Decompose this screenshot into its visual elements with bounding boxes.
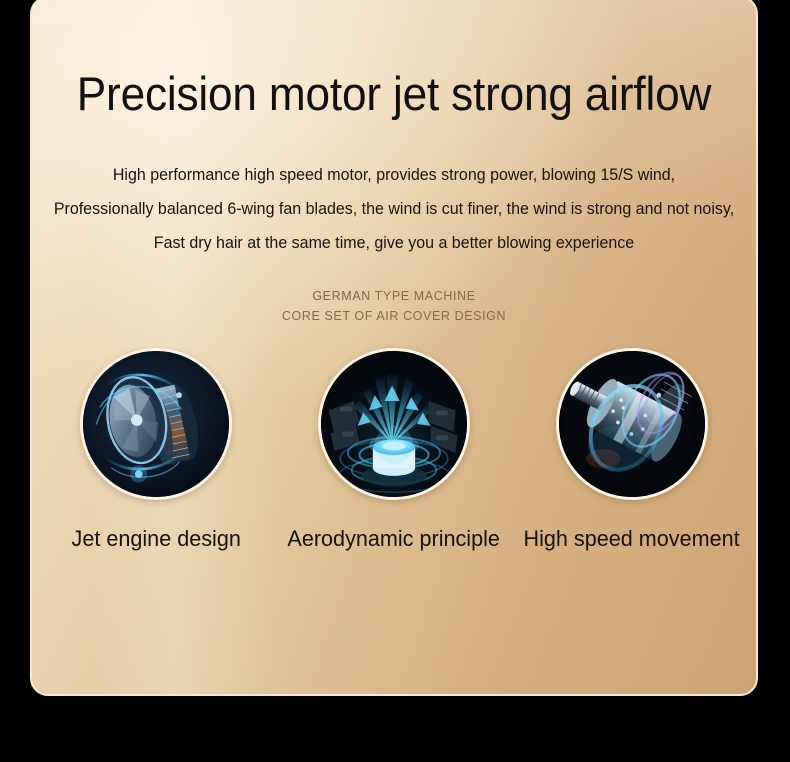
feature-row: Jet engine design xyxy=(32,348,756,552)
description-line: Professionally balanced 6-wing fan blade… xyxy=(43,192,745,226)
feature-item-high-speed: High speed movement xyxy=(552,348,712,552)
subheading-line: CORE SET OF AIR COVER DESIGN xyxy=(32,306,756,326)
feature-item-aerodynamic: Aerodynamic principle xyxy=(314,348,474,552)
screenshot-canvas: Precision motor jet strong airflow High … xyxy=(0,0,790,762)
feature-item-jet-engine: Jet engine design xyxy=(76,348,236,552)
airflow-vortex-image xyxy=(318,348,470,500)
page-title: Precision motor jet strong airflow xyxy=(54,70,735,117)
feature-label: High speed movement xyxy=(524,526,740,552)
jet-turbine-image xyxy=(80,348,232,500)
description-block: High performance high speed motor, provi… xyxy=(43,158,745,260)
feature-label: Aerodynamic principle xyxy=(288,526,501,552)
motor-rotor-image xyxy=(556,348,708,500)
subheading-line: GERMAN TYPE MACHINE xyxy=(32,286,756,306)
subheading-block: GERMAN TYPE MACHINE CORE SET OF AIR COVE… xyxy=(32,286,756,326)
description-line: Fast dry hair at the same time, give you… xyxy=(43,226,745,260)
card-content: Precision motor jet strong airflow High … xyxy=(32,0,756,694)
product-promo-card: Precision motor jet strong airflow High … xyxy=(30,0,758,696)
description-line: High performance high speed motor, provi… xyxy=(43,158,745,192)
feature-label: Jet engine design xyxy=(71,526,240,552)
